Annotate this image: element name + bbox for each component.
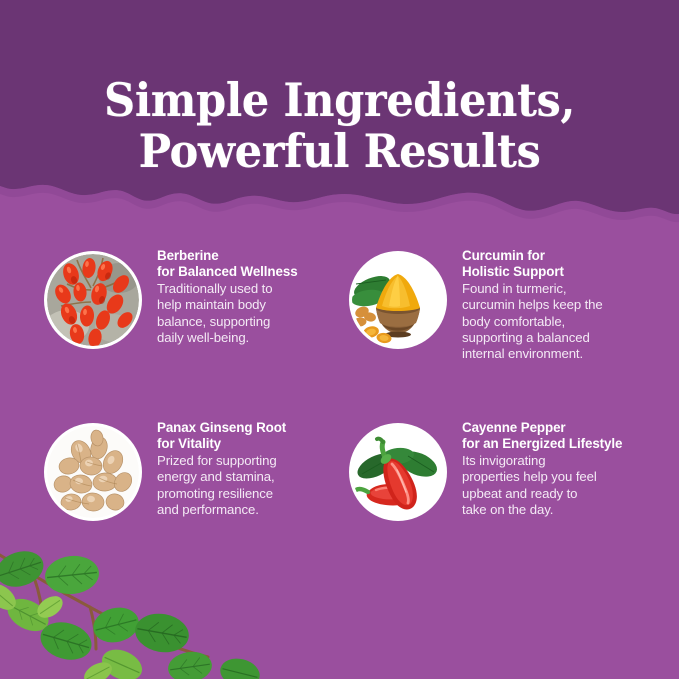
- ingredient-card-cayenne: Cayenne Pepper for an Energized Lifestyl…: [352, 418, 657, 518]
- body-line-2: energy and stamina,: [157, 469, 286, 485]
- ingredients-infographic: Simple Ingredients, Powerful Results: [0, 0, 679, 679]
- card-heading: Curcumin for Holistic Support: [462, 248, 603, 281]
- body-line-2: properties help you feel: [462, 469, 622, 485]
- card-heading: Cayenne Pepper for an Energized Lifestyl…: [462, 420, 622, 453]
- heading-line-2: for Vitality: [157, 436, 286, 452]
- card-text: Cayenne Pepper for an Energized Lifestyl…: [462, 418, 622, 518]
- title-line-2: Powerful Results: [20, 126, 658, 177]
- card-body: Traditionally used to help maintain body…: [157, 281, 298, 347]
- body-line-1: Its invigorating: [462, 453, 622, 469]
- body-line-4: and performance.: [157, 502, 286, 518]
- card-body: Prized for supporting energy and stamina…: [157, 453, 286, 519]
- body-line-2: curcumin helps keep the: [462, 297, 603, 313]
- heading-line-1: Berberine: [157, 248, 298, 264]
- heading-line-1: Panax Ginseng Root: [157, 420, 286, 436]
- card-body: Found in turmeric, curcumin helps keep t…: [462, 281, 603, 363]
- ginseng-root-photo-icon: [47, 426, 139, 518]
- card-text: Panax Ginseng Root for Vitality Prized f…: [157, 418, 286, 518]
- card-text: Curcumin for Holistic Support Found in t…: [462, 246, 603, 363]
- leaves: [0, 545, 263, 679]
- ingredient-card-ginseng: Panax Ginseng Root for Vitality Prized f…: [47, 418, 337, 518]
- torn-edge-highlight: [0, 185, 679, 222]
- body-line-4: daily well-being.: [157, 330, 298, 346]
- ingredient-grid: Berberine for Balanced Wellness Traditio…: [0, 246, 679, 556]
- body-line-1: Traditionally used to: [157, 281, 298, 297]
- body-line-2: help maintain body: [157, 297, 298, 313]
- card-body: Its invigorating properties help you fee…: [462, 453, 622, 519]
- body-line-1: Prized for supporting: [157, 453, 286, 469]
- body-line-3: upbeat and ready to: [462, 486, 622, 502]
- branch-stems: [0, 549, 208, 657]
- card-heading: Berberine for Balanced Wellness: [157, 248, 298, 281]
- turmeric-bowl-photo-icon: [352, 254, 444, 346]
- card-text: Berberine for Balanced Wellness Traditio…: [157, 246, 298, 346]
- body-line-4: supporting a balanced: [462, 330, 603, 346]
- heading-line-2: for Balanced Wellness: [157, 264, 298, 280]
- body-line-3: balance, supporting: [157, 314, 298, 330]
- body-line-4: take on the day.: [462, 502, 622, 518]
- body-line-3: body comfortable,: [462, 314, 603, 330]
- title-line-1: Simple Ingredients,: [20, 75, 658, 126]
- ingredient-card-berberine: Berberine for Balanced Wellness Traditio…: [47, 246, 337, 346]
- ingredient-card-curcumin: Curcumin for Holistic Support Found in t…: [352, 246, 657, 363]
- body-line-1: Found in turmeric,: [462, 281, 603, 297]
- card-heading: Panax Ginseng Root for Vitality: [157, 420, 286, 453]
- heading-line-1: Cayenne Pepper: [462, 420, 622, 436]
- heading-line-2: Holistic Support: [462, 264, 603, 280]
- page-title: Simple Ingredients, Powerful Results: [20, 75, 658, 177]
- cayenne-pepper-photo-icon: [352, 426, 444, 518]
- body-line-5: internal environment.: [462, 346, 603, 362]
- heading-line-1: Curcumin for: [462, 248, 603, 264]
- heading-line-2: for an Energized Lifestyle: [462, 436, 622, 452]
- body-line-3: promoting resilience: [157, 486, 286, 502]
- goji-berries-photo-icon: [47, 254, 139, 346]
